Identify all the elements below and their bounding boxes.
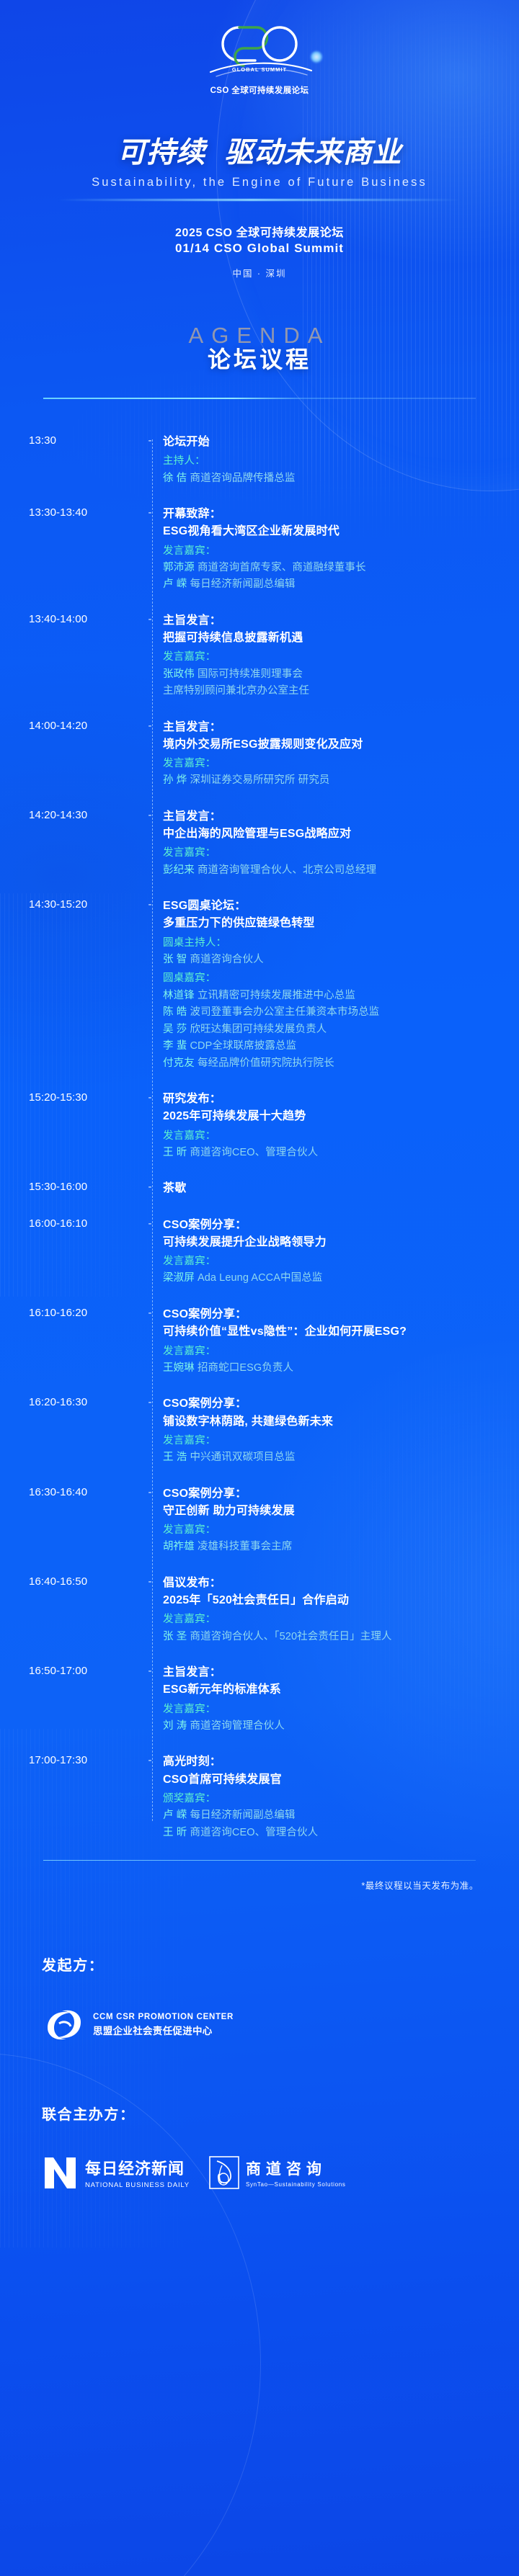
agenda-speaker: 徐 佶 商道咨询品牌传播总监 <box>163 470 494 487</box>
agenda-speaker-name: 张政伟 <box>163 668 195 680</box>
agenda-speaker: 胡祚雄 凌雄科技董事会主席 <box>163 1539 494 1555</box>
agenda-header-divider <box>43 398 476 399</box>
agenda-speaker: 王 浩 中兴通讯双碳项目总监 <box>163 1449 494 1466</box>
agenda-row: 14:00-14:20-主旨发言：境内外交易所ESG披露规则变化及应对发言嘉宾：… <box>29 719 494 790</box>
agenda-row: 15:30-16:00-茶歇 <box>29 1180 494 1197</box>
agenda-row: 16:20-16:30-CSO案例分享：铺设数字林荫路, 共建绿色新未来发言嘉宾… <box>29 1395 494 1466</box>
svg-text:GLOBAL SUMMIT: GLOBAL SUMMIT <box>232 66 287 73</box>
agenda-row-role-label: 发言嘉宾： <box>163 1343 494 1360</box>
agenda-speaker: 王婉琳 招商蛇口ESG负责人 <box>163 1360 494 1377</box>
agenda-panelist-name: 李 蜚 <box>163 1040 187 1052</box>
agenda-row-dash-icon: - <box>137 1753 163 1766</box>
logo-national-business-daily: 每日经济新闻 NATIONAL BUSINESS DAILY <box>42 2155 190 2190</box>
agenda-row-dash-icon: - <box>137 719 163 732</box>
agenda-row-dash-icon: - <box>137 1180 163 1193</box>
agenda-row-time: 16:10-16:20 <box>29 1306 137 1319</box>
agenda-speaker-name: 胡祚雄 <box>163 1541 195 1552</box>
agenda-row-body: 主旨发言：ESG新元年的标准体系发言嘉宾：刘 涛 商道咨询管理合伙人 <box>163 1664 494 1735</box>
cso-logo-icon: GLOBAL SUMMIT <box>187 19 332 81</box>
agenda-speaker: 梁淑屏 Ada Leung ACCA中国总监 <box>163 1270 494 1287</box>
logo-ccm-csr-promotion-center: CCM CSR PROMOTION CENTER 思盟企业社会责任促进中心 <box>42 2006 234 2044</box>
nbd-logo-text-en: NATIONAL BUSINESS DAILY <box>85 2181 190 2189</box>
agenda-row-role-label: 发言嘉宾： <box>163 756 494 772</box>
agenda-row-time: 14:30-15:20 <box>29 898 137 911</box>
agenda-panelist: 付克友 每经品牌价值研究院执行院长 <box>163 1055 494 1072</box>
agenda-row-body: 主旨发言：把握可持续信息披露新机遇发言嘉宾：张政伟 国际可持续准则理事会主席特别… <box>163 612 494 700</box>
agenda-row-dash-icon: - <box>137 898 163 911</box>
agenda-speaker-name: 王 浩 <box>163 1452 187 1463</box>
bottom-spacer <box>0 2190 519 2276</box>
agenda-row-subtitle: 2025年可持续发展十大趋势 <box>163 1108 494 1125</box>
agenda-row-body: 开幕致辞：ESG视角看大湾区企业新发展时代发言嘉宾：郭沛源 商道咨询首席专家、商… <box>163 506 494 594</box>
agenda-row-time: 13:30-13:40 <box>29 506 137 519</box>
agenda-row: 16:30-16:40-CSO案例分享：守正创新 助力可持续发展发言嘉宾：胡祚雄… <box>29 1485 494 1556</box>
agenda-row-title: 茶歇 <box>163 1180 494 1197</box>
agenda-row-role-label: 发言嘉宾： <box>163 543 494 560</box>
agenda-speaker-name: 王 昕 <box>163 1827 187 1838</box>
agenda-row-time: 16:00-16:10 <box>29 1217 137 1230</box>
agenda-row: 15:20-15:30-研究发布：2025年可持续发展十大趋势发言嘉宾：王 昕 … <box>29 1091 494 1161</box>
agenda-speaker: 彭纪来 商道咨询管理合伙人、北京公司总经理 <box>163 862 494 879</box>
agenda-speaker: 卢 嵘 每日经济新闻副总编辑 <box>163 1807 494 1824</box>
agenda-speaker-name: 卢 嵘 <box>163 578 187 590</box>
agenda-row-subtitle: CSO首席可持续发展官 <box>163 1771 494 1789</box>
agenda-speaker-name: 梁淑屏 <box>163 1272 195 1284</box>
agenda-speaker-name: 王 昕 <box>163 1147 187 1158</box>
hero-title-en: Sustainability, the Engine of Future Bus… <box>0 176 519 189</box>
agenda-row-body: 主旨发言：境内外交易所ESG披露规则变化及应对发言嘉宾：孙 烨 深圳证券交易所研… <box>163 719 494 790</box>
initiator-label: 发起方： <box>42 1954 519 1975</box>
event-meta: 2025 CSO 全球可持续发展论坛 01/14 CSO Global Summ… <box>0 223 519 279</box>
hero: 可持续驱动未来商业 Sustainability, the Engine of … <box>0 129 519 201</box>
agenda-row-body: 倡议发布：2025年「520社会责任日」合作启动发言嘉宾：张 圣 商道咨询合伙人… <box>163 1575 494 1645</box>
agenda-panelist: 陈 皓 波司登董事会办公室主任兼资本市场总监 <box>163 1004 494 1021</box>
agenda-row-role-label: 发言嘉宾： <box>163 649 494 666</box>
agenda-speaker: 卢 嵘 每日经济新闻副总编辑 <box>163 576 494 593</box>
agenda-row-dash-icon: - <box>137 506 163 519</box>
agenda-row-time: 17:00-17:30 <box>29 1753 137 1766</box>
agenda-row-subtitle: 铺设数字林荫路, 共建绿色新未来 <box>163 1413 494 1431</box>
brand-logo: GLOBAL SUMMIT CSO 全球可持续发展论坛 <box>0 0 519 96</box>
agenda-row: 17:00-17:30-高光时刻：CSO首席可持续发展官颁奖嘉宾：卢 嵘 每日经… <box>29 1753 494 1841</box>
agenda-row-subtitle: 中企出海的风险管理与ESG战略应对 <box>163 826 494 843</box>
agenda-row-time: 16:30-16:40 <box>29 1485 137 1498</box>
initiator-logos: CCM CSR PROMOTION CENTER 思盟企业社会责任促进中心 <box>42 2006 519 2044</box>
agenda-panelist-org: 欣旺达集团可持续发展负责人 <box>187 1024 327 1035</box>
agenda-row-title: 主旨发言： <box>163 1664 494 1681</box>
agenda-panelist: 吴 莎 欣旺达集团可持续发展负责人 <box>163 1021 494 1038</box>
agenda-speaker-org: 招商蛇口ESG负责人 <box>195 1362 293 1374</box>
agenda-row-body: CSO案例分享：守正创新 助力可持续发展发言嘉宾：胡祚雄 凌雄科技董事会主席 <box>163 1485 494 1556</box>
agenda-row-dash-icon: - <box>137 808 163 821</box>
agenda-row-time: 16:50-17:00 <box>29 1664 137 1677</box>
agenda-row-role-label: 发言嘉宾： <box>163 1128 494 1145</box>
agenda-panelist-name: 吴 莎 <box>163 1024 187 1035</box>
agenda-speaker-org: 商道咨询首席专家、商道融绿董事长 <box>195 562 366 573</box>
agenda-row: 14:30-15:20-ESG圆桌论坛：多重压力下的供应链绿色转型圆桌主持人：张… <box>29 898 494 1072</box>
agenda-row-dash-icon: - <box>137 1664 163 1677</box>
agenda-speaker-org: 中兴通讯双碳项目总监 <box>187 1452 295 1463</box>
footer-divider <box>43 1860 476 1861</box>
agenda-header-cn: 论坛议程 <box>0 341 519 375</box>
nbd-logo-text-cn: 每日经济新闻 <box>85 2156 190 2179</box>
agenda-row: 13:30-论坛开始主持人：徐 佶 商道咨询品牌传播总监 <box>29 434 494 487</box>
agenda-row-subtitle: 可持续发展提升企业战略领导力 <box>163 1234 494 1251</box>
agenda-row: 16:00-16:10-CSO案例分享：可持续发展提升企业战略领导力发言嘉宾：梁… <box>29 1217 494 1287</box>
agenda-panelist-name: 付克友 <box>163 1057 195 1069</box>
agenda-row-body: 研究发布：2025年可持续发展十大趋势发言嘉宾：王 昕 商道咨询CEO、管理合伙… <box>163 1091 494 1161</box>
agenda-row-body: 茶歇 <box>163 1180 494 1197</box>
agenda-row-role-label: 主持人： <box>163 453 494 470</box>
agenda-row-subtitle: ESG视角看大湾区企业新发展时代 <box>163 523 494 540</box>
agenda-list: 13:30-论坛开始主持人：徐 佶 商道咨询品牌传播总监13:30-13:40-… <box>0 434 519 1841</box>
agenda-panelist-name: 林道锋 <box>163 990 195 1001</box>
hero-title-cn: 可持续驱动未来商业 <box>0 129 519 171</box>
agenda-row-role-label-2: 圆桌嘉宾： <box>163 970 494 987</box>
agenda-speaker-name: 徐 佶 <box>163 473 187 484</box>
agenda-row-title: 倡议发布： <box>163 1575 494 1592</box>
agenda-speaker: 张政伟 国际可持续准则理事会 <box>163 666 494 683</box>
agenda-row-dash-icon: - <box>137 434 163 447</box>
agenda-row-time: 16:40-16:50 <box>29 1575 137 1588</box>
agenda-disclaimer: *最终议程以当天发布为准。 <box>0 1878 479 1892</box>
event-city: 中国 · 深圳 <box>0 266 519 279</box>
agenda-row-title: 研究发布： <box>163 1091 494 1108</box>
event-meta-en: 01/14 CSO Global Summit <box>0 241 519 256</box>
agenda-row-body: 高光时刻：CSO首席可持续发展官颁奖嘉宾：卢 嵘 每日经济新闻副总编辑王 昕 商… <box>163 1753 494 1841</box>
agenda-panelist: 林道锋 立讯精密可持续发展推进中心总监 <box>163 988 494 1004</box>
agenda-speaker: 王 昕 商道咨询CEO、管理合伙人 <box>163 1145 494 1161</box>
agenda-row-time: 13:30 <box>29 434 137 447</box>
agenda-speaker: 张 圣 商道咨询合伙人、「520社会责任日」主理人 <box>163 1629 494 1645</box>
hero-divider <box>58 199 461 201</box>
brand-logo-caption: CSO 全球可持续发展论坛 <box>0 84 519 96</box>
syntao-logo-text-en: SynTao—Sustainability Solutions <box>246 2181 346 2188</box>
agenda-speaker-org: 每日经济新闻副总编辑 <box>187 578 295 590</box>
ccm-logo-text-en: CCM CSR PROMOTION CENTER <box>93 2013 234 2021</box>
agenda-speaker-name: 张 智 <box>163 954 187 965</box>
agenda-speaker-org: 凌雄科技董事会主席 <box>195 1541 293 1552</box>
agenda-row-title: CSO案例分享： <box>163 1485 494 1503</box>
nbd-mark-icon <box>42 2155 79 2190</box>
agenda-row-subtitle: 境内外交易所ESG披露规则变化及应对 <box>163 736 494 753</box>
agenda-row-time: 13:40-14:00 <box>29 612 137 625</box>
agenda-row-body: 论坛开始主持人：徐 佶 商道咨询品牌传播总监 <box>163 434 494 487</box>
logo-syntao: 商道咨询 SynTao—Sustainability Solutions <box>208 2155 346 2190</box>
agenda-row-time: 16:20-16:30 <box>29 1395 137 1408</box>
event-meta-cn: 2025 CSO 全球可持续发展论坛 <box>0 223 519 240</box>
agenda-speaker: 孙 烨 深圳证券交易所研究所 研究员 <box>163 772 494 789</box>
agenda-row-body: 主旨发言：中企出海的风险管理与ESG战略应对发言嘉宾：彭纪来 商道咨询管理合伙人… <box>163 808 494 879</box>
agenda-speaker-org-cont: 主席特别顾问兼北京办公室主任 <box>163 683 494 699</box>
agenda-row-title: 高光时刻： <box>163 1753 494 1771</box>
agenda-speaker-org: 商道咨询CEO、管理合伙人 <box>187 1827 318 1838</box>
agenda-panelist-org: 每经品牌价值研究院执行院长 <box>195 1057 334 1069</box>
agenda-row-body: CSO案例分享：可持续价值“显性vs隐性”：企业如何开展ESG?发言嘉宾：王婉琳… <box>163 1306 494 1377</box>
agenda-speaker-org: 每日经济新闻副总编辑 <box>187 1810 295 1821</box>
agenda-speaker-org: 商道咨询管理合伙人、北京公司总经理 <box>195 864 376 876</box>
agenda-speaker-name: 彭纪来 <box>163 864 195 876</box>
agenda-row-role-label: 发言嘉宾： <box>163 1701 494 1718</box>
coorganizer-block: 联合主办方： 每日经济新闻 NATIONAL BUSINESS DAILY <box>0 2103 519 2190</box>
agenda-row: 16:40-16:50-倡议发布：2025年「520社会责任日」合作启动发言嘉宾… <box>29 1575 494 1645</box>
agenda-speaker: 王 昕 商道咨询CEO、管理合伙人 <box>163 1825 494 1841</box>
agenda-speaker: 刘 涛 商道咨询管理合伙人 <box>163 1718 494 1735</box>
agenda-speaker-org: Ada Leung ACCA中国总监 <box>195 1272 323 1284</box>
agenda-row-subtitle: 把握可持续信息披露新机遇 <box>163 630 494 647</box>
coorganizer-label: 联合主办方： <box>42 2103 519 2124</box>
agenda-speaker-name: 卢 嵘 <box>163 1810 187 1821</box>
agenda-panelist-org: 立讯精密可持续发展推进中心总监 <box>195 990 355 1001</box>
agenda-row-title: ESG圆桌论坛： <box>163 898 494 915</box>
agenda-row-role-label: 发言嘉宾： <box>163 1611 494 1628</box>
agenda-row: 14:20-14:30-主旨发言：中企出海的风险管理与ESG战略应对发言嘉宾：彭… <box>29 808 494 879</box>
poster-root: GLOBAL SUMMIT CSO 全球可持续发展论坛 可持续驱动未来商业 Su… <box>0 0 519 2576</box>
agenda-row-subtitle: 可持续价值“显性vs隐性”：企业如何开展ESG? <box>163 1323 494 1341</box>
agenda-speaker-name: 刘 涛 <box>163 1720 187 1732</box>
agenda-row-title: 论坛开始 <box>163 434 494 451</box>
agenda-row-role-label: 发言嘉宾： <box>163 1253 494 1270</box>
agenda-speaker-org: 商道咨询CEO、管理合伙人 <box>187 1147 318 1158</box>
agenda-speaker: 张 智 商道咨询合伙人 <box>163 952 494 968</box>
agenda-speaker-org: 国际可持续准则理事会 <box>195 668 303 680</box>
agenda-speaker-org: 商道咨询合伙人、「520社会责任日」主理人 <box>187 1631 391 1642</box>
agenda-row: 13:30-13:40-开幕致辞：ESG视角看大湾区企业新发展时代发言嘉宾：郭沛… <box>29 506 494 594</box>
agenda-row-time: 15:20-15:30 <box>29 1091 137 1104</box>
agenda-row-time: 14:20-14:30 <box>29 808 137 821</box>
syntao-logo-text-cn: 商道咨询 <box>246 2157 346 2179</box>
agenda-row-role-label: 发言嘉宾： <box>163 845 494 862</box>
agenda-row-dash-icon: - <box>137 1217 163 1230</box>
syntao-seal-icon <box>208 2155 240 2190</box>
agenda-row-title: CSO案例分享： <box>163 1306 494 1323</box>
agenda-row-body: CSO案例分享：可持续发展提升企业战略领导力发言嘉宾：梁淑屏 Ada Leung… <box>163 1217 494 1287</box>
agenda-row-body: ESG圆桌论坛：多重压力下的供应链绿色转型圆桌主持人：张 智 商道咨询合伙人圆桌… <box>163 898 494 1072</box>
agenda-row-dash-icon: - <box>137 1091 163 1104</box>
agenda-row-role-label: 颁奖嘉宾： <box>163 1791 494 1807</box>
agenda-row-subtitle: 守正创新 助力可持续发展 <box>163 1503 494 1520</box>
agenda-row-title: 主旨发言： <box>163 808 494 826</box>
agenda-row-body: CSO案例分享：铺设数字林荫路, 共建绿色新未来发言嘉宾：王 浩 中兴通讯双碳项… <box>163 1395 494 1466</box>
agenda-row-title: 主旨发言： <box>163 719 494 736</box>
agenda-row-title: CSO案例分享： <box>163 1217 494 1234</box>
agenda-row-dash-icon: - <box>137 1395 163 1408</box>
agenda-row-subtitle: ESG新元年的标准体系 <box>163 1681 494 1699</box>
initiator-block: 发起方： CCM CSR PROMOTION CENTER 思盟企业社会责任促进… <box>0 1954 519 2044</box>
agenda-speaker-org: 商道咨询管理合伙人 <box>187 1720 285 1732</box>
agenda-panelist-name: 陈 皓 <box>163 1006 187 1018</box>
agenda-speaker-name: 郭沛源 <box>163 562 195 573</box>
agenda-speaker-name: 王婉琳 <box>163 1362 195 1374</box>
agenda-panelist: 李 蜚 CDP全球联席披露总监 <box>163 1038 494 1055</box>
agenda-row-subtitle: 2025年「520社会责任日」合作启动 <box>163 1592 494 1609</box>
agenda-speaker-org: 商道咨询品牌传播总监 <box>187 473 295 484</box>
agenda-row-role-label: 发言嘉宾： <box>163 1522 494 1539</box>
agenda-row-role-label: 发言嘉宾： <box>163 1433 494 1449</box>
agenda-row-time: 15:30-16:00 <box>29 1180 137 1193</box>
agenda-row-title: 开幕致辞： <box>163 506 494 523</box>
agenda-row: 13:40-14:00-主旨发言：把握可持续信息披露新机遇发言嘉宾：张政伟 国际… <box>29 612 494 700</box>
ccm-swirl-icon <box>42 2006 86 2044</box>
agenda-row: 16:50-17:00-主旨发言：ESG新元年的标准体系发言嘉宾：刘 涛 商道咨… <box>29 1664 494 1735</box>
agenda-panelist-org: CDP全球联席披露总监 <box>187 1040 296 1052</box>
agenda-speaker-org: 商道咨询合伙人 <box>187 954 263 965</box>
agenda-row-time: 14:00-14:20 <box>29 719 137 732</box>
agenda-header: AGENDA 论坛议程 <box>0 323 519 406</box>
agenda-row-dash-icon: - <box>137 1485 163 1498</box>
agenda-speaker-name: 孙 烨 <box>163 774 187 786</box>
agenda-row: 16:10-16:20-CSO案例分享：可持续价值“显性vs隐性”：企业如何开展… <box>29 1306 494 1377</box>
coorganizer-logos: 每日经济新闻 NATIONAL BUSINESS DAILY 商道咨询 SynT… <box>42 2155 519 2190</box>
agenda-row-title: CSO案例分享： <box>163 1395 494 1413</box>
agenda-row-role-label: 圆桌主持人： <box>163 935 494 952</box>
agenda-row-dash-icon: - <box>137 612 163 625</box>
agenda-row-subtitle: 多重压力下的供应链绿色转型 <box>163 915 494 932</box>
agenda-row-dash-icon: - <box>137 1575 163 1588</box>
agenda-speaker: 郭沛源 商道咨询首席专家、商道融绿董事长 <box>163 560 494 576</box>
agenda-speaker-name: 张 圣 <box>163 1631 187 1642</box>
ccm-logo-text-cn: 思盟企业社会责任促进中心 <box>93 2023 234 2037</box>
agenda-row-dash-icon: - <box>137 1306 163 1319</box>
agenda-panelist-org: 波司登董事会办公室主任兼资本市场总监 <box>187 1006 379 1018</box>
agenda-speaker-org: 深圳证券交易所研究所 研究员 <box>187 774 329 786</box>
agenda-row-title: 主旨发言： <box>163 612 494 630</box>
